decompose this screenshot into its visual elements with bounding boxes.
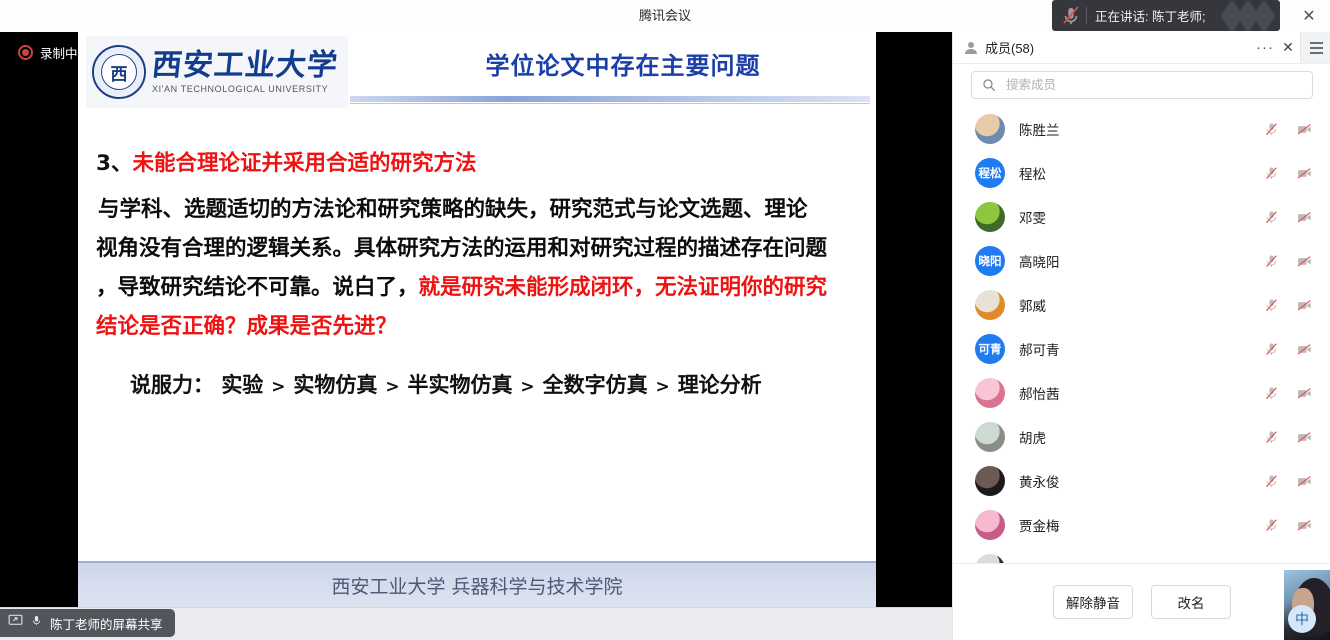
avatar-initials: 晓阳 — [975, 246, 1005, 276]
slide-header: 西 西安工业大学 XI'AN TECHNOLOGICAL UNIVERSITY … — [78, 36, 876, 112]
mic-muted-icon[interactable] — [1263, 385, 1280, 402]
mic-muted-icon[interactable] — [1263, 341, 1280, 358]
member-status-icons — [1263, 283, 1313, 327]
member-status-icons — [1263, 327, 1313, 371]
slide-title: 学位论文中存在主要问题 — [378, 42, 868, 84]
member-row[interactable]: 贾金梅 — [953, 503, 1330, 547]
member-name: 陈胜兰 — [1019, 119, 1060, 139]
member-status-icons — [1263, 151, 1313, 195]
seal-glyph: 西 — [94, 47, 144, 97]
member-status-icons — [1263, 107, 1313, 151]
presentation-slide: 西 西安工业大学 XI'AN TECHNOLOGICAL UNIVERSITY … — [78, 32, 876, 607]
member-row[interactable]: 可青郝可青 — [953, 327, 1330, 371]
members-panel-title: 成员(58) — [985, 38, 1034, 57]
member-row[interactable]: 黄永俊 — [953, 459, 1330, 503]
overlay-divider — [1086, 7, 1087, 24]
member-row[interactable]: 晓阳高晓阳 — [953, 239, 1330, 283]
screen-share-icon — [8, 613, 23, 633]
member-row[interactable]: 郭威 — [953, 283, 1330, 327]
university-name-en: XI'AN TECHNOLOGICAL UNIVERSITY — [152, 84, 338, 94]
tencent-meeting-window: 腾讯会议 正在讲话: 陈丁老师; ✕ 录制中 西 — [0, 0, 1330, 640]
member-status-icons — [1263, 195, 1313, 239]
slide-footer-text: 西安工业大学 兵器科学与技术学院 — [78, 563, 876, 607]
ime-indicator[interactable]: 中 — [1288, 605, 1316, 633]
members-panel-footer: 解除静音 改名 — [953, 563, 1330, 640]
para-line2-text: 视角没有合理的逻辑关系。具体研究方法的运用和对研究过程的描述存在问题 — [96, 236, 827, 261]
slide-paragraph-line-1: 与学科、选题适切的方法论和研究策略的缺失，研究范式与论文选题、理论 — [98, 190, 808, 229]
screen-share-indicator[interactable]: 陈丁老师的屏幕共享 — [0, 609, 175, 637]
member-name: 邓雯 — [1019, 207, 1046, 227]
camera-muted-icon[interactable] — [1296, 297, 1313, 314]
member-name: 黄永俊 — [1019, 471, 1060, 491]
slide-heading: 3、未能合理论证并采用合适的研究方法 — [96, 144, 476, 183]
heading-red-text: 未能合理论证并采用合适的研究方法 — [132, 151, 476, 176]
mic-muted-icon[interactable] — [1263, 473, 1280, 490]
camera-muted-icon[interactable] — [1296, 165, 1313, 182]
avatar-initials: 可青 — [975, 334, 1005, 364]
conclusion-separator: > — [263, 377, 293, 397]
slide-paragraph-line-2: 视角没有合理的逻辑关系。具体研究方法的运用和对研究过程的描述存在问题 — [96, 229, 827, 268]
screen-share-label: 陈丁老师的屏幕共享 — [50, 614, 163, 633]
member-name: 郝怡茜 — [1019, 383, 1060, 403]
member-status-icons — [1263, 503, 1313, 547]
conclusion-separator: > — [648, 377, 678, 397]
camera-muted-icon[interactable] — [1296, 429, 1313, 446]
mic-muted-icon — [1058, 0, 1084, 31]
search-input[interactable] — [1004, 77, 1288, 93]
conclusion-chain: 实验 > 实物仿真 > 半实物仿真 > 全数字仿真 > 理论分析 — [221, 373, 761, 397]
avatar-photo — [975, 510, 1005, 540]
para-line3-black-text: ，导致研究结论不可靠。说白了， — [96, 275, 419, 300]
mic-muted-icon[interactable] — [1263, 121, 1280, 138]
para-line4-red-text: 结论是否正确？成果是否先进？ — [96, 314, 397, 339]
avatar-photo — [975, 422, 1005, 452]
conclusion-item: 实验 — [221, 373, 263, 397]
recording-label: 录制中 — [40, 43, 78, 62]
university-seal-icon: 西 — [92, 45, 146, 99]
avatar-photo — [975, 202, 1005, 232]
slide-paragraph-line-3: ，导致研究结论不可靠。说白了，就是研究未能形成闭环，无法证明你的研究 — [96, 268, 827, 307]
active-speaker-overlay[interactable]: 正在讲话: 陈丁老师; — [1052, 0, 1280, 31]
member-name: 高晓阳 — [1019, 251, 1060, 271]
recording-indicator: 录制中 — [18, 43, 78, 62]
mic-muted-icon[interactable] — [1263, 429, 1280, 446]
member-status-icons — [1263, 239, 1313, 283]
members-search-area — [953, 63, 1330, 107]
camera-muted-icon[interactable] — [1296, 253, 1313, 270]
mic-muted-icon[interactable] — [1263, 209, 1280, 226]
avatar-photo — [975, 378, 1005, 408]
mic-muted-icon[interactable] — [1263, 165, 1280, 182]
hamburger-menu-icon[interactable] — [1300, 32, 1330, 63]
member-status-icons — [1263, 415, 1313, 459]
conclusion-item: 实物仿真 — [293, 373, 377, 397]
conclusion-item: 半实物仿真 — [408, 373, 513, 397]
avatar-photo — [975, 114, 1005, 144]
member-name: 郝可青 — [1019, 339, 1060, 359]
title-rule — [350, 96, 870, 102]
member-row[interactable]: 胡虎 — [953, 415, 1330, 459]
mic-muted-icon[interactable] — [1263, 297, 1280, 314]
conclusion-item: 理论分析 — [678, 373, 762, 397]
member-row[interactable]: 郝怡茜 — [953, 371, 1330, 415]
members-panel-header: 成员(58) ··· ✕ — [953, 32, 1330, 64]
mic-muted-icon[interactable] — [1263, 517, 1280, 534]
slide-footer: 西安工业大学 兵器科学与技术学院 — [78, 561, 876, 607]
camera-muted-icon[interactable] — [1296, 121, 1313, 138]
member-status-icons — [1263, 459, 1313, 503]
member-name: 程松 — [1019, 163, 1046, 183]
unmute-button[interactable]: 解除静音 — [1053, 585, 1133, 619]
search-icon — [982, 78, 996, 92]
panel-more-button[interactable]: ··· — [1253, 32, 1277, 63]
panel-close-button[interactable]: ✕ — [1277, 32, 1299, 63]
slide-conclusion-line: 说服力： 实验 > 实物仿真 > 半实物仿真 > 全数字仿真 > 理论分析 — [130, 369, 762, 399]
member-row[interactable]: 邓雯 — [953, 195, 1330, 239]
members-panel: 成员(58) ··· ✕ 陈胜兰程松程松邓雯晓阳高晓阳郭威可青郝可青郝怡茜胡虎黄… — [952, 32, 1330, 640]
rename-button[interactable]: 改名 — [1151, 585, 1231, 619]
members-list[interactable]: 陈胜兰程松程松邓雯晓阳高晓阳郭威可青郝可青郝怡茜胡虎黄永俊贾金梅靳极升 — [953, 107, 1330, 596]
title-rule-thin — [350, 103, 870, 104]
heading-number: 3、 — [96, 151, 132, 176]
people-icon — [963, 40, 979, 56]
para-line3-red-text: 就是研究未能形成闭环，无法证明你的研究 — [419, 275, 828, 300]
para-line1-text: 与学科、选题适切的方法论和研究策略的缺失，研究范式与论文选题、理论 — [98, 197, 808, 222]
member-row[interactable]: 陈胜兰 — [953, 107, 1330, 151]
record-dot-icon — [18, 45, 33, 60]
mic-muted-icon[interactable] — [1263, 253, 1280, 270]
camera-muted-icon[interactable] — [1296, 473, 1313, 490]
camera-muted-icon[interactable] — [1296, 209, 1313, 226]
conclusion-separator: > — [377, 377, 407, 397]
avatar-photo — [975, 290, 1005, 320]
camera-muted-icon[interactable] — [1296, 517, 1313, 534]
university-logo: 西 西安工业大学 XI'AN TECHNOLOGICAL UNIVERSITY — [86, 36, 348, 108]
overlay-chevrons-icon — [1198, 0, 1274, 31]
conclusion-item: 全数字仿真 — [543, 373, 648, 397]
conclusion-separator: > — [513, 377, 543, 397]
camera-muted-icon[interactable] — [1296, 385, 1313, 402]
member-row[interactable]: 程松程松 — [953, 151, 1330, 195]
member-status-icons — [1263, 371, 1313, 415]
active-speaker-label: 正在讲话: 陈丁老师; — [1095, 6, 1205, 25]
conclusion-label: 说服力： — [130, 373, 214, 397]
slide-paragraph-line-4: 结论是否正确？成果是否先进？ — [96, 307, 397, 346]
search-box[interactable] — [971, 71, 1313, 99]
window-close-button[interactable]: ✕ — [1296, 3, 1322, 29]
member-name: 贾金梅 — [1019, 515, 1060, 535]
avatar-initials: 程松 — [975, 158, 1005, 188]
university-name-cn: 西安工业大学 — [150, 50, 339, 82]
microphone-icon — [30, 613, 43, 633]
member-name: 胡虎 — [1019, 427, 1046, 447]
avatar-photo — [975, 466, 1005, 496]
member-name: 郭威 — [1019, 295, 1046, 315]
camera-muted-icon[interactable] — [1296, 341, 1313, 358]
